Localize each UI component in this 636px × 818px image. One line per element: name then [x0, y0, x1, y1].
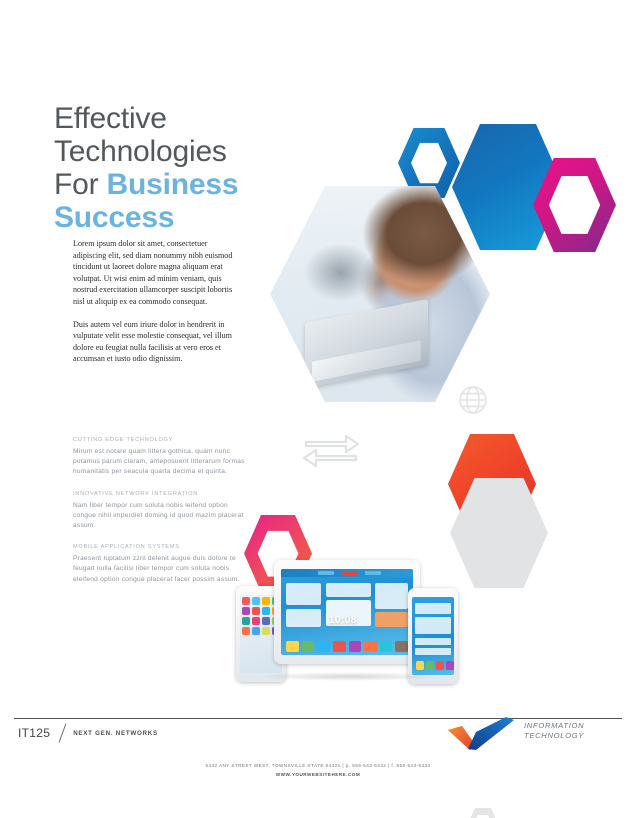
- hexagon-gray-small-outline: [467, 808, 499, 818]
- page-title: Effective Technologies For Business Succ…: [54, 102, 354, 234]
- tablet-widget-calendar: [286, 609, 320, 628]
- headline-line-3-plain: For: [54, 168, 107, 201]
- tablet-widget-message: [375, 612, 408, 627]
- tablet-device: 10:08: [274, 560, 420, 664]
- feature-text: Praesent luptatum zzril delenit augue du…: [73, 554, 245, 585]
- footer-address-line: 5432 ANY STREET WEST, TOWNSVILLE STATE 5…: [0, 761, 636, 770]
- headline-line-4-accent: Success: [54, 201, 174, 234]
- logo-text-line-1: INFORMATION: [524, 721, 584, 731]
- laptop-in-photo: [305, 299, 428, 388]
- footer-tagline: NEXT GEN. NETWORKS: [73, 730, 158, 737]
- smartphone-right-screen: [412, 597, 454, 675]
- feature-text: Nam liber tempor cum soluta nobis leifen…: [73, 501, 245, 532]
- tablet-widget-search: [326, 583, 371, 597]
- tablet-widget-photo: [375, 583, 408, 609]
- flyer-page: Effective Technologies For Business Succ…: [0, 0, 636, 818]
- footer-code: IT125: [18, 726, 50, 740]
- headline-line-3-accent: Business: [107, 168, 239, 201]
- tablet-clock: 10:08: [329, 614, 357, 626]
- footer-contact-info: 5432 ANY STREET WEST, TOWNSVILLE STATE 5…: [0, 761, 636, 779]
- device-shadow: [254, 672, 444, 681]
- feature-heading: MOBILE APPLICATION SYSTEMS: [73, 544, 245, 550]
- tablet-screen: 10:08: [281, 569, 413, 655]
- tablet-nav-bar: [281, 569, 413, 577]
- tablet-dock: [286, 641, 407, 652]
- hexagon-magenta-outline: [533, 158, 616, 252]
- logo-text: INFORMATION TECHNOLOGY: [524, 721, 584, 741]
- body-paragraph-2: Duis autem vel eum iriure dolor in hendr…: [73, 319, 241, 365]
- headline-line-1: Effective: [54, 102, 167, 135]
- feature-item-mobile-application-systems: MOBILE APPLICATION SYSTEMS Praesent lupt…: [73, 544, 245, 585]
- feature-item-cutting-edge-technology: CUTTING EDGE TECHNOLOGY Mirum est notare…: [73, 437, 245, 478]
- feature-list: CUTTING EDGE TECHNOLOGY Mirum est notare…: [73, 437, 245, 598]
- feature-heading: INNOVATIVE NETWORK INTEGRATION: [73, 491, 245, 497]
- exchange-arrows-icon: [298, 428, 364, 468]
- body-paragraph-1: Lorem ipsum dolor sit amet, consectetuer…: [73, 238, 241, 308]
- footer-website-url: WWW.YOURWEBSITEHERE.COM: [0, 770, 636, 779]
- globe-icon: [456, 383, 490, 417]
- feature-item-innovative-network-integration: INNOVATIVE NETWORK INTEGRATION Nam liber…: [73, 491, 245, 532]
- device-mockup-group: 10:08: [236, 560, 458, 682]
- feature-text: Mirum est notare quam littera gothica, q…: [73, 447, 245, 478]
- logo-text-line-2: TECHNOLOGY: [524, 731, 584, 741]
- tablet-widget-weather: [286, 583, 320, 605]
- app-icon-row: [414, 659, 454, 672]
- headline-line-2: Technologies: [54, 135, 227, 168]
- hexagon-gray-solid: [450, 478, 548, 588]
- footer-brand: IT125 NEXT GEN. NETWORKS: [18, 723, 158, 743]
- checkmark-swoosh-icon: [446, 716, 520, 750]
- smartphone-right: [408, 588, 458, 684]
- feature-heading: CUTTING EDGE TECHNOLOGY: [73, 437, 245, 443]
- intro-body-copy: Lorem ipsum dolor sit amet, consectetuer…: [73, 238, 241, 376]
- company-logo: INFORMATION TECHNOLOGY: [446, 714, 618, 760]
- footer-slash-divider: [59, 723, 67, 742]
